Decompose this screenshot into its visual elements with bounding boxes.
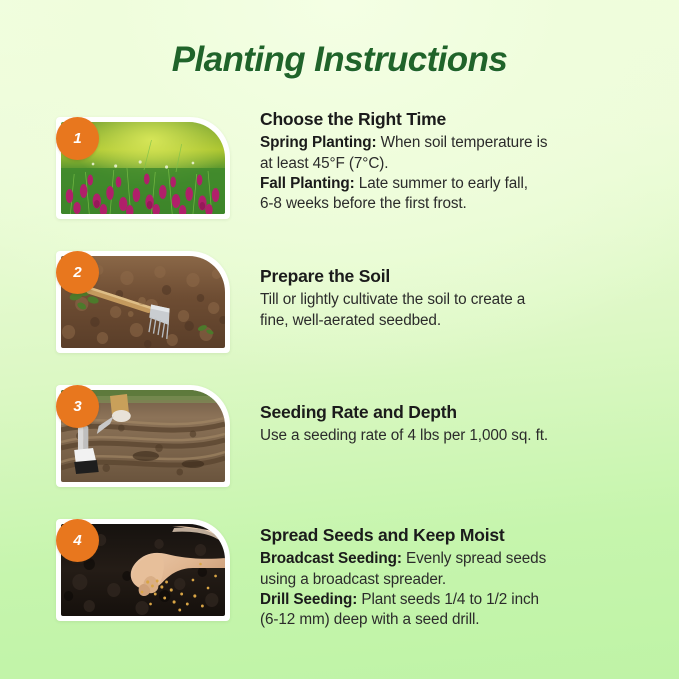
step-body-text: Evenly spread seeds xyxy=(402,550,546,567)
step-image-card: 4 xyxy=(56,519,230,621)
step-body-label: Broadcast Seeding: xyxy=(260,550,402,567)
step-heading: Seeding Rate and Depth xyxy=(260,402,651,424)
step-number-badge: 3 xyxy=(56,385,99,428)
step-body-text: Till or lightly cultivate the soil to cr… xyxy=(260,291,525,308)
step-number-badge: 1 xyxy=(56,117,99,160)
step-body-text: Plant seeds 1/4 to 1/2 inch xyxy=(357,591,539,608)
page-title: Planting Instructions xyxy=(0,0,679,80)
step-text-column: Choose the Right Time Spring Planting: W… xyxy=(230,97,651,215)
step-text-column: Prepare the Soil Till or lightly cultiva… xyxy=(230,231,651,332)
step-body-line: Spring Planting: When soil temperature i… xyxy=(260,133,651,153)
step-text-column: Spread Seeds and Keep Moist Broadcast Se… xyxy=(230,499,651,631)
step-image-wrapper: 2 xyxy=(48,231,230,353)
step-body-line: (6-12 mm) deep with a seed drill. xyxy=(260,610,651,630)
step-body-label: Drill Seeding: xyxy=(260,591,357,608)
step-body-text: 6-8 weeks before the first frost. xyxy=(260,195,467,212)
step-body-label: Spring Planting: xyxy=(260,134,377,151)
step-body-label: Fall Planting: xyxy=(260,175,355,192)
step-body-text: Use a seeding rate of 4 lbs per 1,000 sq… xyxy=(260,427,548,444)
step-body-line: using a broadcast spreader. xyxy=(260,570,651,590)
step-body-text: (6-12 mm) deep with a seed drill. xyxy=(260,611,479,628)
step-body-line: Broadcast Seeding: Evenly spread seeds xyxy=(260,549,651,569)
step-image-wrapper: 1 xyxy=(48,97,230,219)
step-body-line: Till or lightly cultivate the soil to cr… xyxy=(260,290,651,310)
step-image-card: 2 xyxy=(56,251,230,353)
step-heading: Choose the Right Time xyxy=(260,109,651,131)
step-body-line: Use a seeding rate of 4 lbs per 1,000 sq… xyxy=(260,426,651,446)
step-number-badge: 2 xyxy=(56,251,99,294)
step-number-badge: 4 xyxy=(56,519,99,562)
step-body-line: at least 45°F (7°C). xyxy=(260,154,651,174)
step-body-line: 6-8 weeks before the first frost. xyxy=(260,194,651,214)
step-body-text: Late summer to early fall, xyxy=(355,175,528,192)
instruction-step: 1 Choose the Right Time Spring Planting:… xyxy=(0,97,679,219)
step-body-line: fine, well-aerated seedbed. xyxy=(260,311,651,331)
instruction-steps-list: 1 Choose the Right Time Spring Planting:… xyxy=(0,97,679,631)
step-image-wrapper: 3 xyxy=(48,365,230,487)
step-image-card: 1 xyxy=(56,117,230,219)
instruction-step: 2 Prepare the Soil Till or lightly culti… xyxy=(0,231,679,353)
step-heading: Prepare the Soil xyxy=(260,266,651,288)
step-body-text: fine, well-aerated seedbed. xyxy=(260,312,441,329)
planting-instructions-infographic: Planting Instructions xyxy=(0,0,679,679)
step-body-line: Drill Seeding: Plant seeds 1/4 to 1/2 in… xyxy=(260,590,651,610)
step-text-column: Seeding Rate and Depth Use a seeding rat… xyxy=(230,365,651,447)
step-image-card: 3 xyxy=(56,385,230,487)
step-body-text: at least 45°F (7°C). xyxy=(260,155,388,172)
instruction-step: 3 Seeding Rate and Depth Use a seeding r… xyxy=(0,365,679,487)
instruction-step: 4 Spread Seeds and Keep Moist Broadcast … xyxy=(0,499,679,631)
step-body-text: When soil temperature is xyxy=(377,134,548,151)
step-heading: Spread Seeds and Keep Moist xyxy=(260,525,651,547)
step-body-line: Fall Planting: Late summer to early fall… xyxy=(260,174,651,194)
step-image-wrapper: 4 xyxy=(48,499,230,621)
step-body-text: using a broadcast spreader. xyxy=(260,571,446,588)
